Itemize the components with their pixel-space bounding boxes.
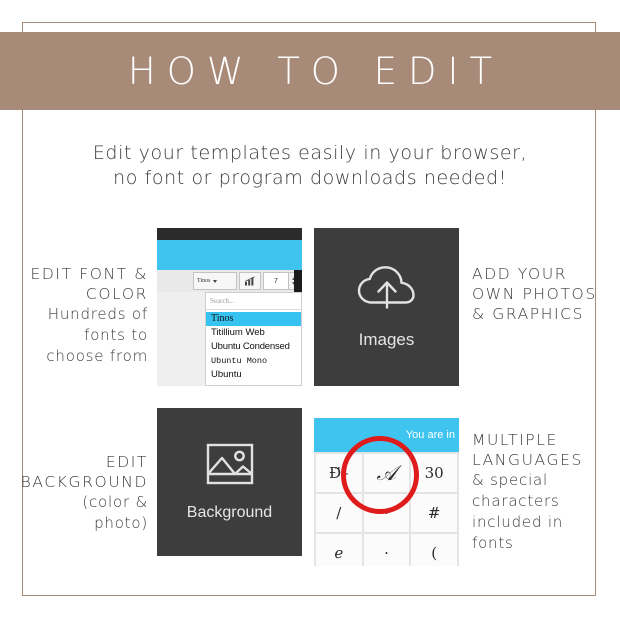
caption-languages-sub-4: fonts [472, 533, 618, 554]
caption-edit-font-sub-1: Hundreds of [8, 304, 148, 325]
caption-edit-background: EDIT BACKGROUND (color & photo) [8, 452, 148, 534]
font-list: Tinos Titillium Web Ubuntu Condensed Ubu… [206, 310, 301, 382]
editor-blue-bar [157, 240, 302, 270]
font-size-icon[interactable] [239, 272, 261, 290]
language-banner-text: You are in [406, 429, 455, 441]
page-title: HOW TO EDIT [117, 53, 503, 90]
caption-add-photos-head-2: OWN PHOTOS [472, 284, 618, 304]
caption-languages-sub-1: & special [472, 470, 618, 491]
image-photo-icon [206, 443, 254, 490]
caption-add-photos-head-1: ADD YOUR [472, 264, 618, 284]
caption-edit-background-head-2: BACKGROUND [8, 472, 148, 492]
font-list-item-ubuntu[interactable]: Ubuntu [206, 368, 301, 382]
glyph-cell[interactable]: · [364, 534, 410, 566]
font-family-value: Tinos [197, 278, 210, 284]
chevron-down-icon [213, 280, 217, 283]
glyph-cell[interactable]: / [316, 494, 362, 532]
caption-edit-font-color: EDIT FONT & COLOR Hundreds of fonts to c… [8, 264, 148, 367]
font-editor-screenshot: Tinos 7 Search... [157, 228, 302, 386]
subtitle-line-2: no font or program downloads needed! [30, 166, 590, 191]
caption-languages-head-1: MULTIPLE [472, 430, 618, 450]
font-family-dropdown[interactable]: Tinos [193, 272, 237, 290]
caption-edit-font-sub-3: choose from [8, 346, 148, 367]
font-search-input[interactable]: Search... [206, 293, 301, 310]
caption-edit-font-sub-2: fonts to [8, 325, 148, 346]
caption-add-photos: ADD YOUR OWN PHOTOS & GRAPHICS [472, 264, 618, 324]
font-list-item-ubuntu-mono[interactable]: Ubuntu Mono [206, 354, 301, 368]
glyph-cell[interactable]: · [364, 494, 410, 532]
toolbar-edge-cap [294, 270, 302, 292]
caption-languages-head-2: LANGUAGES [472, 450, 618, 470]
caption-edit-font-head-2: COLOR [8, 284, 148, 304]
caption-add-photos-head-3: & GRAPHICS [472, 304, 618, 324]
editor-canvas-area [157, 292, 205, 386]
font-size-value: 7 [274, 278, 278, 285]
caption-edit-background-sub-1: (color & [8, 492, 148, 513]
font-search-placeholder: Search... [210, 297, 234, 305]
cloud-upload-icon [356, 265, 418, 316]
subtitle: Edit your templates easily in your brows… [30, 141, 590, 191]
glyph-cell[interactable]: ℯ [316, 534, 362, 566]
glyph-cell[interactable]: # [411, 494, 457, 532]
how-to-edit-infographic: HOW TO EDIT Edit your templates easily i… [0, 0, 620, 620]
special-characters-screenshot: You are in Đ̈– 𝒜 30 / · # ℯ · ( [314, 418, 459, 566]
images-upload-card[interactable]: Images [314, 228, 459, 386]
font-toolbar: Tinos 7 [157, 270, 302, 292]
subtitle-line-1: Edit your templates easily in your brows… [30, 141, 590, 166]
background-card-label: Background [187, 504, 272, 522]
glyph-cell[interactable]: 30 [411, 454, 457, 492]
background-card[interactable]: Background [157, 408, 302, 556]
glyph-cell-highlighted[interactable]: 𝒜 [364, 454, 410, 492]
font-list-item-tinos[interactable]: Tinos [206, 312, 301, 326]
font-list-item-ubuntu-condensed[interactable]: Ubuntu Condensed [206, 340, 301, 354]
caption-languages-sub-3: included in [472, 512, 618, 533]
caption-edit-font-head-1: EDIT FONT & [8, 264, 148, 284]
images-card-label: Images [359, 330, 415, 350]
caption-multiple-languages: MULTIPLE LANGUAGES & special characters … [472, 430, 618, 554]
font-list-item-titillium-web[interactable]: Titillium Web [206, 326, 301, 340]
header-banner: HOW TO EDIT [0, 32, 620, 110]
font-list-dropdown[interactable]: Search... Tinos Titillium Web Ubuntu Con… [205, 292, 302, 386]
caption-languages-sub-2: characters [472, 491, 618, 512]
language-banner: You are in [314, 418, 459, 452]
caption-edit-background-head-1: EDIT [8, 452, 148, 472]
glyph-grid: Đ̈– 𝒜 30 / · # ℯ · ( [314, 452, 459, 566]
editor-top-strip [157, 228, 302, 240]
glyph-cell[interactable]: ( [411, 534, 457, 566]
caption-edit-background-sub-2: photo) [8, 513, 148, 534]
glyph-cell[interactable]: Đ̈– [316, 454, 362, 492]
font-size-input[interactable]: 7 [263, 272, 289, 290]
